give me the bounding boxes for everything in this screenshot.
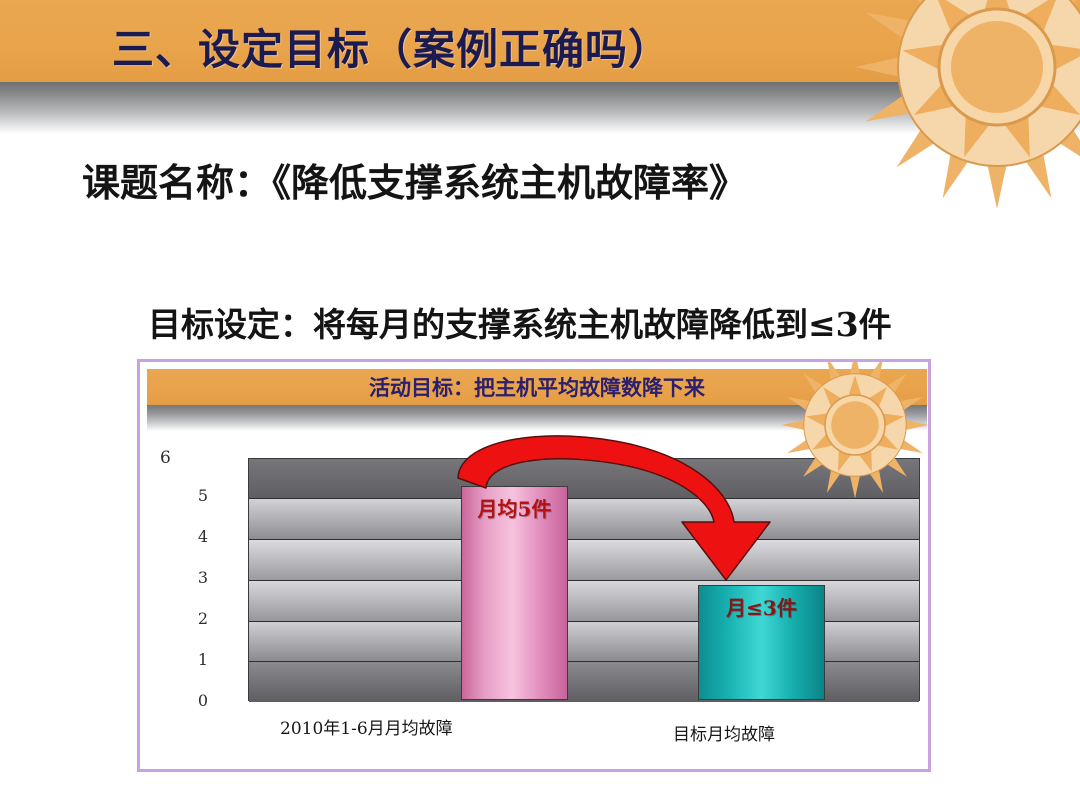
chart-panel: 活动目标：把主机平均故障数降下来 6 5 4 3 2 1 0 月均5件 月≤3件: [137, 359, 931, 772]
plot-band-4-3: [249, 540, 919, 581]
plot-band-5-4: [249, 499, 919, 540]
y-axis-tick-1: 1: [178, 650, 208, 669]
bar-current-average: 月均5件: [461, 486, 568, 700]
page-title: 三、设定目标（案例正确吗）: [112, 16, 671, 77]
y-axis-tick-6: 6: [160, 448, 171, 468]
header-shadow-gradient: [0, 82, 1080, 134]
goal-statement: 目标设定：将每月的支撑系统主机故障降低到≤3件: [148, 298, 892, 346]
subject-title: 课题名称：《降低支撑系统主机故障率》: [82, 152, 747, 207]
y-axis-tick-5: 5: [178, 486, 208, 505]
bar-target-average: 月≤3件: [698, 585, 825, 700]
bar-label-current: 月均5件: [462, 493, 567, 522]
y-axis-tick-3: 3: [178, 568, 208, 587]
y-axis-tick-4: 4: [178, 527, 208, 546]
bar-label-target: 月≤3件: [699, 592, 824, 621]
x-axis-category-2: 目标月均故障: [673, 720, 775, 745]
chart-title: 活动目标：把主机平均故障数降下来: [147, 372, 927, 402]
x-axis-category-1: 2010年1-6月月均故障: [280, 714, 453, 739]
y-axis-tick-0: 0: [178, 691, 208, 710]
slide-root: 三、设定目标（案例正确吗）: [0, 0, 1080, 810]
y-axis-tick-2: 2: [178, 609, 208, 628]
